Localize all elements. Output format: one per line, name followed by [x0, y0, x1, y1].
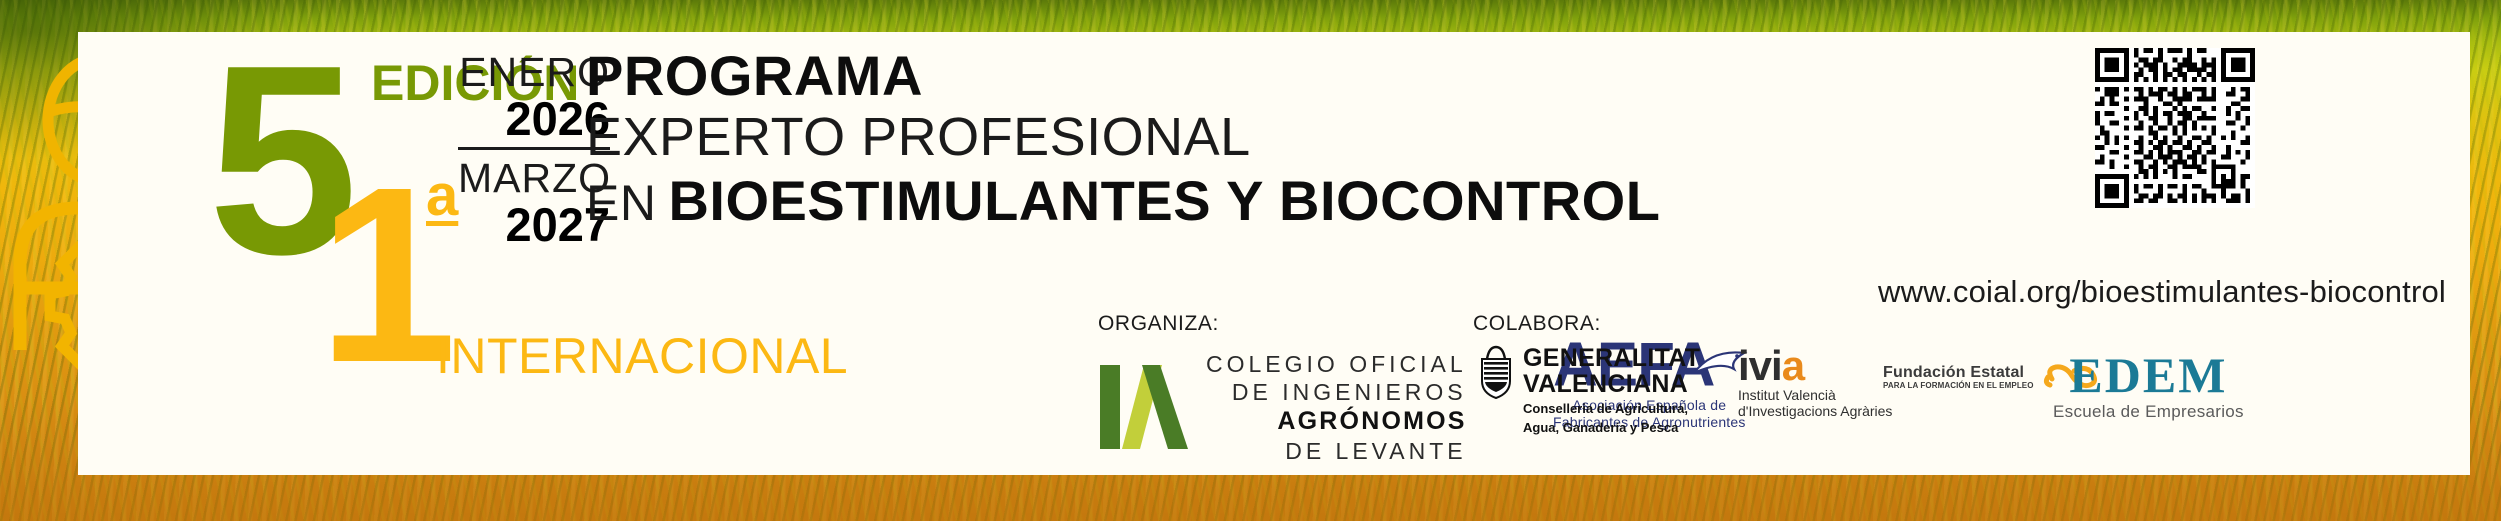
fundacion-line-2: PARA LA FORMACIÓN EN EL EMPLEO	[1883, 381, 2034, 391]
coial-line-4: DE LEVANTE	[1206, 437, 1467, 465]
title-programa: PROGRAMA	[586, 46, 1660, 106]
coial-mark-icon	[1098, 361, 1190, 453]
ivia-name-part-2: a	[1782, 342, 1804, 389]
qr-code[interactable]	[2095, 48, 2255, 213]
coial-logo[interactable]: COLEGIO OFICIAL DE INGENIEROS AGRÓNOMOS …	[1098, 350, 1467, 465]
fundacion-line-1: Fundación Estatal	[1883, 364, 2034, 381]
organiza-group: ORGANIZA: COLEGIO OFICIAL DE INGENIEROS	[1098, 312, 1467, 465]
edem-wordmark: EDEM	[2053, 349, 2244, 401]
sponsors-row: ORGANIZA: COLEGIO OFICIAL DE INGENIEROS	[78, 307, 2470, 475]
ordinal-indicator: a	[426, 162, 458, 229]
coial-line-2: DE INGENIEROS	[1206, 378, 1467, 406]
coial-line-3: AGRÓNOMOS	[1206, 406, 1467, 437]
program-title-block: PROGRAMA EXPERTO PROFESIONAL EN BIOESTIM…	[586, 46, 1660, 233]
ivia-sub-line-1: Institut Valencià	[1738, 387, 1892, 403]
colabora-label: COLABORA:	[1473, 312, 1601, 336]
ivia-sub-line-2: d'Investigacions Agràries	[1738, 403, 1892, 419]
website-url[interactable]: www.coial.org/bioestimulantes-biocontrol	[1878, 274, 2446, 310]
generalitat-valenciana-logo[interactable]: GENERALITAT VALENCIANA Conselleria de Ag…	[1478, 345, 1700, 435]
generalitat-sub-line-2: Agua, Ganadería y Pesca	[1523, 420, 1700, 435]
generalitat-line-1: GENERALITAT	[1523, 345, 1700, 371]
generalitat-sub-line-1: Conselleria de Agricultura,	[1523, 401, 1700, 416]
ivia-logo[interactable]: ivia Institut Valencià d'Investigacions …	[1738, 345, 1892, 419]
title-en-prefix: EN	[586, 174, 656, 232]
coial-line-1: COLEGIO OFICIAL	[1206, 350, 1467, 378]
organiza-label: ORGANIZA:	[1098, 312, 1467, 336]
coial-wordmark: COLEGIO OFICIAL DE INGENIEROS AGRÓNOMOS …	[1206, 350, 1467, 465]
event-banner: 5 EDICIÓN 1 a INTERNACIONAL ENERO 2026 M…	[0, 0, 2501, 521]
content-card: 5 EDICIÓN 1 a INTERNACIONAL ENERO 2026 M…	[78, 32, 2470, 475]
generalitat-wordmark: GENERALITAT VALENCIANA Conselleria de Ag…	[1523, 345, 1700, 435]
colabora-group: COLABORA:	[1473, 312, 1601, 336]
edem-tagline: Escuela de Empresarios	[2053, 402, 2244, 422]
ivia-name-part-1: ivi	[1738, 342, 1782, 389]
title-experto-profesional: EXPERTO PROFESIONAL	[586, 108, 1660, 166]
title-bioestimulantes-biocontrol: BIOESTIMULANTES Y BIOCONTROL	[668, 168, 1660, 233]
fundacion-wordmark: Fundación Estatal PARA LA FORMACIÓN EN E…	[1883, 364, 2034, 391]
generalitat-line-2: VALENCIANA	[1523, 371, 1700, 397]
generalitat-shield-icon	[1478, 345, 1514, 399]
edem-logo[interactable]: EDEM Escuela de Empresarios	[2053, 349, 2244, 422]
ivia-wordmark: ivia	[1738, 345, 1892, 387]
title-subject-line: EN BIOESTIMULANTES Y BIOCONTROL	[586, 168, 1660, 233]
